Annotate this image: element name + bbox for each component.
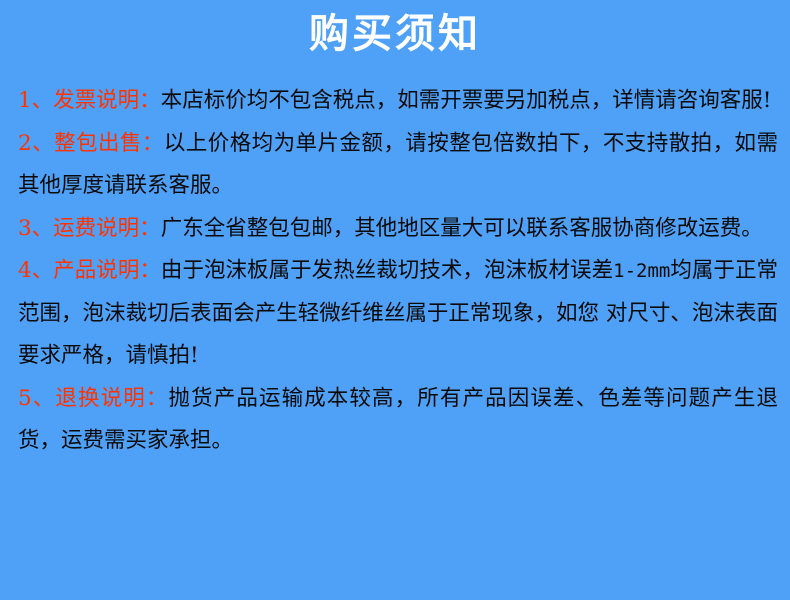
page-title: 购买须知 bbox=[0, 6, 790, 62]
notice-text-shipping: 广东全省整包包邮，其他地区量大可以联系客服协商修改运费。 bbox=[161, 216, 763, 241]
notice-item-product: 4、产品说明：由于泡沫板属于发热丝裁切技术，泡沫板材误差1-2mm均属于正常范围… bbox=[18, 250, 778, 378]
notice-item-invoice: 1、发票说明：本店标价均不包含税点，如需开票要另加税点，详情请咨询客服! bbox=[18, 80, 778, 123]
notice-item-shipping: 3、运费说明：广东全省整包包邮，其他地区量大可以联系客服协商修改运费。 bbox=[18, 208, 778, 251]
notice-text-product-before-tolerance: 由于泡沫板属于发热丝裁切技术，泡沫板材误差 bbox=[161, 258, 613, 283]
purchase-notice-card: 购买须知 1、发票说明：本店标价均不包含税点，如需开票要另加税点，详情请咨询客服… bbox=[0, 0, 790, 600]
notice-item-returns: 5、退换说明：抛货产品运输成本较高，所有产品因误差、色差等问题产生退货，运费需买… bbox=[18, 378, 778, 463]
notice-text-invoice: 本店标价均不包含税点，如需开票要另加税点，详情请咨询客服! bbox=[161, 88, 772, 113]
notice-label-invoice: 1、发票说明： bbox=[18, 88, 161, 113]
notice-label-returns: 5、退换说明： bbox=[18, 386, 169, 411]
notice-tolerance-value: 1-2mm bbox=[613, 260, 670, 282]
notice-label-full-package-sale: 2、整包出售： bbox=[18, 131, 164, 156]
notice-item-full-package-sale: 2、整包出售：以上价格均为单片金额，请按整包倍数拍下，不支持散拍，如需其他厚度请… bbox=[18, 123, 778, 208]
notice-label-shipping: 3、运费说明： bbox=[18, 216, 161, 241]
notice-label-product: 4、产品说明： bbox=[18, 258, 161, 283]
notice-list: 1、发票说明：本店标价均不包含税点，如需开票要另加税点，详情请咨询客服! 2、整… bbox=[18, 80, 778, 463]
